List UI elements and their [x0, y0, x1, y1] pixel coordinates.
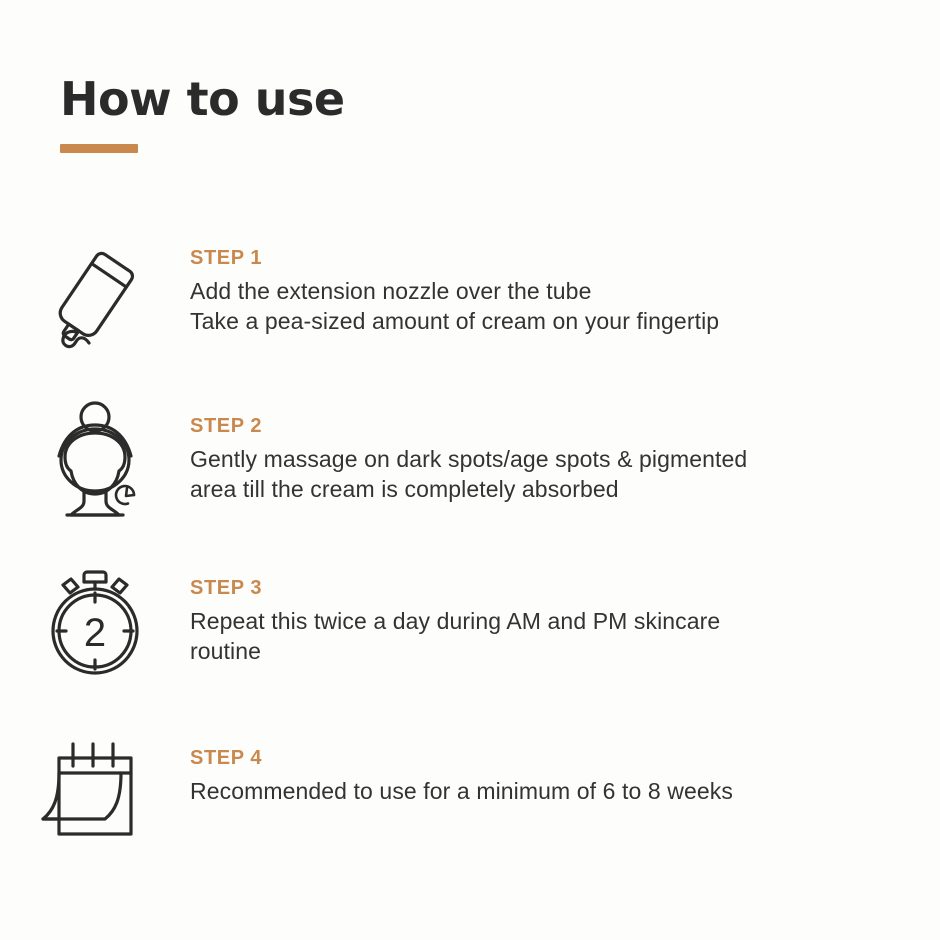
page-title: How to use: [60, 72, 345, 126]
step-label: STEP 2: [190, 414, 940, 438]
step-text-line: area till the cream is completely absorb…: [190, 474, 940, 504]
step-3-body: STEP 3 Repeat this twice a day during AM…: [190, 562, 940, 666]
step-label: STEP 4: [190, 746, 940, 770]
step-text-line: Take a pea-sized amount of cream on your…: [190, 306, 940, 336]
step-2-body: STEP 2 Gently massage on dark spots/age …: [190, 400, 940, 504]
step-label: STEP 1: [190, 246, 940, 270]
step-text-line: Add the extension nozzle over the tube: [190, 276, 940, 306]
step-text-line: Recommended to use for a minimum of 6 to…: [190, 776, 940, 806]
step-text-line: Gently massage on dark spots/age spots &…: [190, 444, 940, 474]
step-4-icon-slot: [0, 732, 190, 844]
step-text-line: Repeat this twice a day during AM and PM…: [190, 606, 940, 636]
list-item: STEP 4 Recommended to use for a minimum …: [0, 732, 940, 852]
step-text: Recommended to use for a minimum of 6 to…: [190, 776, 940, 806]
step-2-icon-slot: [0, 400, 190, 524]
step-text: Repeat this twice a day during AM and PM…: [190, 606, 940, 666]
title-underline-rule: [60, 144, 138, 153]
steps-list: STEP 1 Add the extension nozzle over the…: [0, 232, 940, 852]
step-label: STEP 3: [190, 576, 940, 600]
stopwatch-value: 2: [84, 611, 106, 655]
step-text-line: routine: [190, 636, 940, 666]
step-1-body: STEP 1 Add the extension nozzle over the…: [190, 232, 940, 336]
how-to-use-panel: How to use STEP 1 Add the extension noz: [0, 0, 940, 940]
stopwatch-icon: 2: [37, 562, 153, 680]
list-item: STEP 1 Add the extension nozzle over the…: [0, 232, 940, 400]
calendar-icon: [35, 740, 155, 844]
step-4-body: STEP 4 Recommended to use for a minimum …: [190, 732, 940, 806]
step-1-icon-slot: [0, 232, 190, 358]
step-text: Gently massage on dark spots/age spots &…: [190, 444, 940, 504]
header: How to use: [60, 72, 345, 153]
list-item: 2 STEP 3 Repeat this twice a day during …: [0, 562, 940, 732]
list-item: STEP 2 Gently massage on dark spots/age …: [0, 400, 940, 562]
step-text: Add the extension nozzle over the tube T…: [190, 276, 940, 336]
cream-tube-icon: [36, 238, 154, 358]
face-massage-icon: [39, 400, 151, 524]
step-3-icon-slot: 2: [0, 562, 190, 680]
